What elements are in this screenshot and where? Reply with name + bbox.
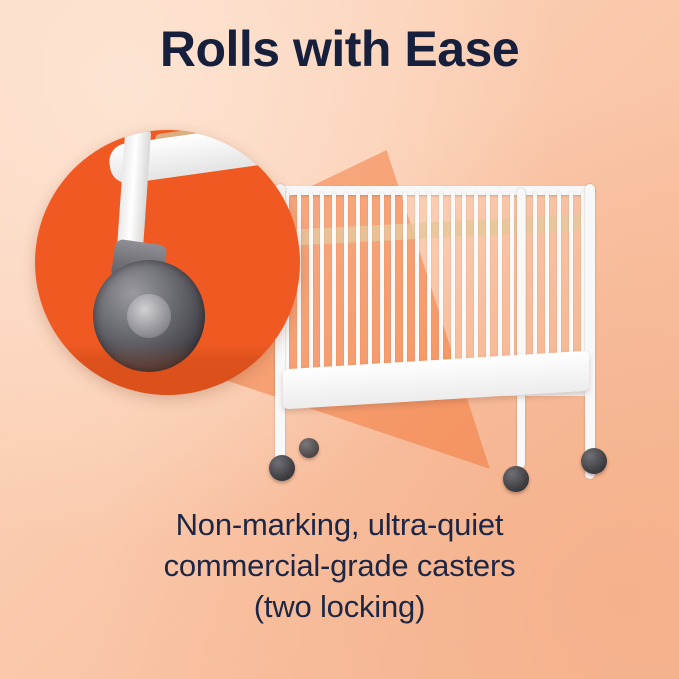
product-photo — [0, 110, 679, 500]
crib-post-middle — [517, 188, 525, 468]
caster-closeup-bubble — [35, 130, 300, 395]
caster-wheel-icon — [503, 466, 529, 492]
caster-wheel-icon — [299, 438, 319, 458]
caption-line-3: (two locking) — [0, 587, 679, 628]
caption-block: Non-marking, ultra-quiet commercial-grad… — [0, 505, 679, 628]
closeup-caster-hub — [127, 294, 171, 338]
caster-wheel-icon — [581, 448, 607, 474]
promo-image: Rolls with Ease — [0, 0, 679, 679]
caster-wheel-icon — [269, 455, 295, 481]
closeup-shadow — [35, 353, 300, 395]
page-title: Rolls with Ease — [0, 22, 679, 77]
crib-post-right — [585, 184, 595, 479]
crib-illustration — [255, 170, 615, 490]
caption-line-2: commercial-grade casters — [0, 546, 679, 587]
caption-line-1: Non-marking, ultra-quiet — [0, 505, 679, 546]
